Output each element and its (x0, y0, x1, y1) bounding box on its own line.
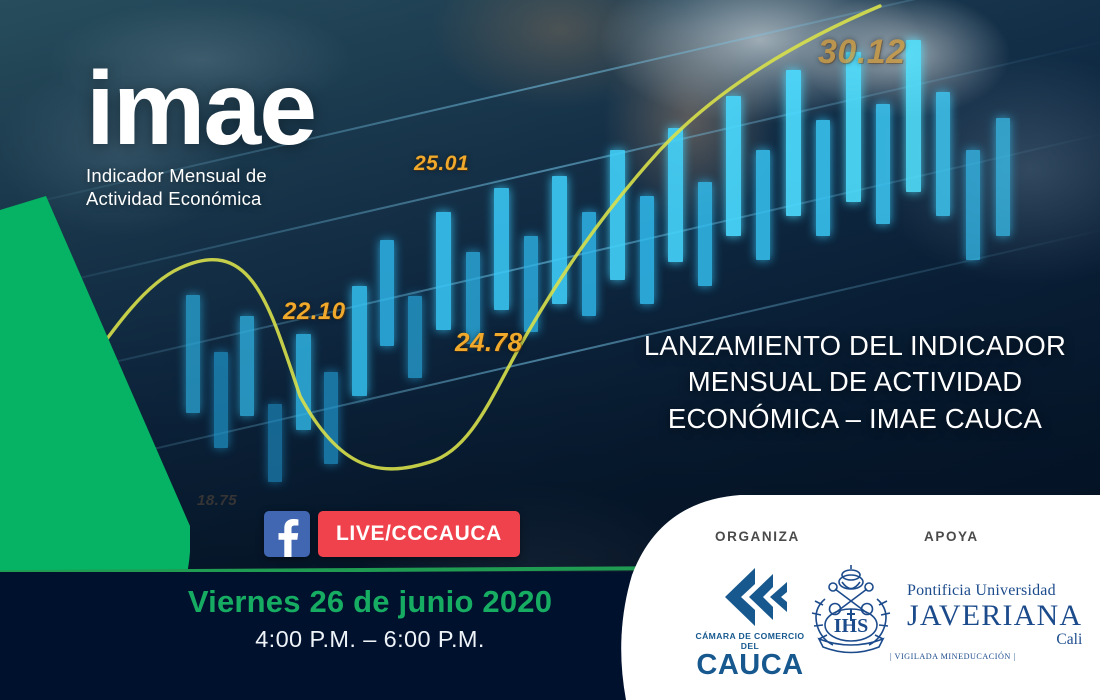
javeriana-crest-icon: IHS (805, 565, 897, 666)
apoya-label: APOYA (924, 529, 979, 544)
chart-value-label: 30.12 (818, 33, 906, 72)
javeriana-logo: IHS Pontificia Universidad JAVERIANA Cal… (805, 565, 1082, 666)
facebook-icon[interactable] (264, 511, 310, 557)
javeriana-text: Pontificia Universidad JAVERIANA Cali (907, 582, 1082, 650)
chart-value-label: 22.10 (283, 298, 346, 326)
event-title: LANZAMIENTO DEL INDICADOR MENSUAL DE ACT… (625, 328, 1085, 437)
ccc-name-small: CÁMARA DE COMERCIO DEL (690, 631, 810, 651)
javeriana-line2: JAVERIANA (907, 600, 1082, 632)
event-date: Viernes 26 de junio 2020 (150, 584, 590, 620)
imae-wordmark: imae (86, 62, 386, 158)
poster-canvas: 30.1225.0122.1024.7818.75 imae Indicador… (0, 0, 1100, 700)
event-time: 4:00 P.M. – 6:00 P.M. (150, 626, 590, 653)
organiza-label: ORGANIZA (715, 529, 800, 544)
ccc-chevron-icon (690, 566, 810, 628)
event-title-line2: MENSUAL DE ACTIVIDAD (625, 364, 1085, 400)
javeriana-vigilada: | VIGILADA MINEDUCACIÓN | (890, 652, 1015, 661)
imae-logo: imae Indicador Mensual de Actividad Econ… (86, 62, 386, 211)
chart-value-label: 24.78 (455, 327, 523, 358)
event-title-line1: LANZAMIENTO DEL INDICADOR (625, 328, 1085, 364)
ccc-name-big: CAUCA (690, 651, 810, 680)
imae-tagline-line1: Indicador Mensual de (86, 164, 386, 188)
imae-tagline-line2: Actividad Económica (86, 187, 386, 211)
live-label[interactable]: LIVE/CCCAUCA (318, 511, 520, 557)
camara-comercio-cauca-logo: CÁMARA DE COMERCIO DEL CAUCA (690, 566, 810, 680)
javeriana-line3: Cali (907, 631, 1082, 649)
chart-value-label: 18.75 (197, 492, 237, 509)
javeriana-line1: Pontificia Universidad (907, 582, 1082, 600)
facebook-live-badge[interactable]: LIVE/CCCAUCA (264, 511, 520, 557)
event-title-line3: ECONÓMICA – IMAE CAUCA (625, 401, 1085, 437)
imae-tagline: Indicador Mensual de Actividad Económica (86, 164, 386, 211)
chart-value-label: 25.01 (414, 152, 469, 176)
